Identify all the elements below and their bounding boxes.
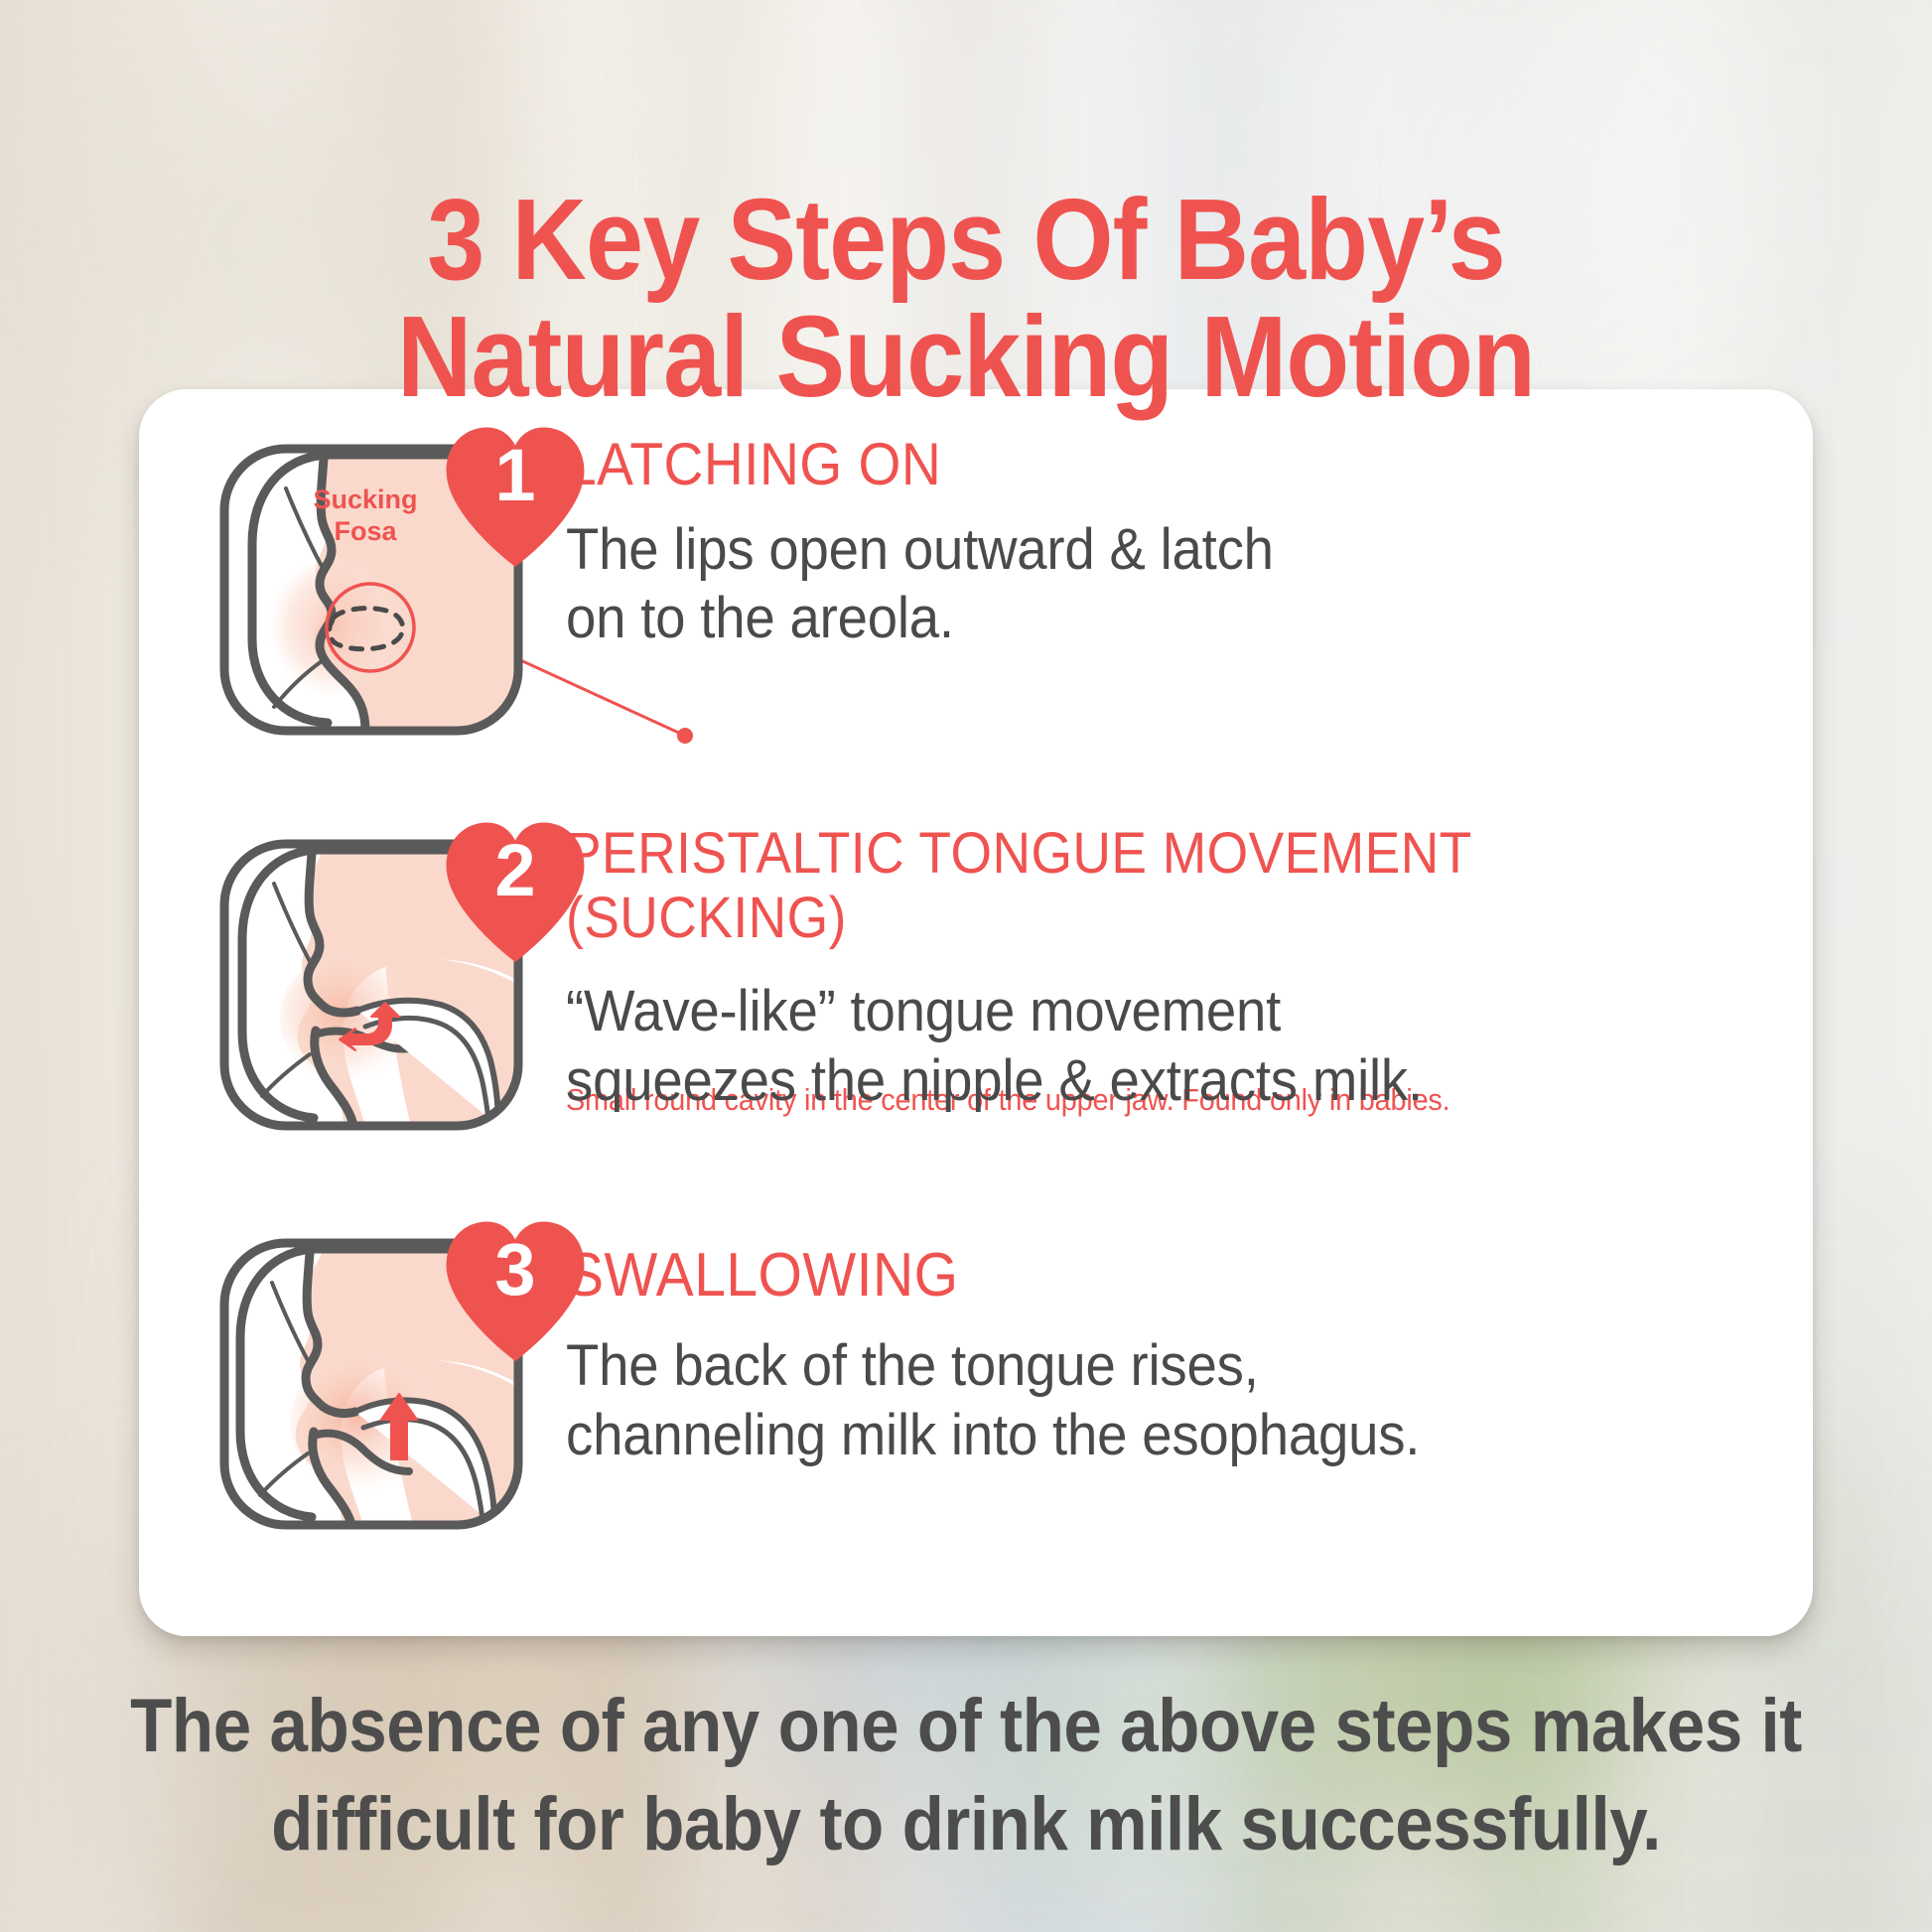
step-body-3: The back of the tongue rises, channeling… — [566, 1331, 1705, 1469]
diagram-swallowing: 3 — [216, 1235, 534, 1533]
bottom-caption-line-2: difficult for baby to drink milk success… — [87, 1776, 1846, 1874]
bottom-caption: The absence of any one of the above step… — [87, 1678, 1846, 1874]
step-body-1: The lips open outward & latch on to the … — [566, 515, 1705, 653]
step-body-2: “Wave-like” tongue movement squeezes the… — [566, 977, 1732, 1115]
step-heading-1: LATCHING ON — [566, 433, 1680, 497]
step-text-2: PERISTALTIC TONGUE MOVEMENT (SUCKING) “W… — [566, 822, 1807, 1115]
step-row-2: 2 PERISTALTIC TONGUE MOVEMENT (SUCKING) … — [139, 784, 1813, 1181]
step-row-1: Sucking Fosa 1 LATCHING ON The lips open… — [139, 389, 1813, 786]
steps-card: Sucking Fosa 1 LATCHING ON The lips open… — [139, 389, 1813, 1636]
svg-text:Sucking: Sucking — [313, 484, 417, 514]
page-title-line-2: Natural Sucking Motion — [96, 298, 1835, 415]
step-heading-3: SWALLOWING — [566, 1243, 1680, 1310]
step-heading-2: PERISTALTIC TONGUE MOVEMENT (SUCKING) — [566, 822, 1708, 951]
step-text-1: LATCHING ON The lips open outward & latc… — [566, 433, 1777, 653]
bottom-caption-line-1: The absence of any one of the above step… — [87, 1678, 1846, 1776]
step-text-3: SWALLOWING The back of the tongue rises,… — [566, 1243, 1777, 1469]
diagram-latching-on: Sucking Fosa 1 — [216, 441, 534, 739]
page-title: 3 Key Steps Of Baby’s Natural Sucking Mo… — [96, 181, 1835, 416]
diagram-peristaltic-tongue-movement: 2 — [216, 836, 534, 1134]
svg-text:Fosa: Fosa — [334, 516, 397, 546]
step-row-3: 3 SWALLOWING The back of the tongue rise… — [139, 1183, 1813, 1581]
page-title-line-1: 3 Key Steps Of Baby’s — [96, 181, 1835, 298]
